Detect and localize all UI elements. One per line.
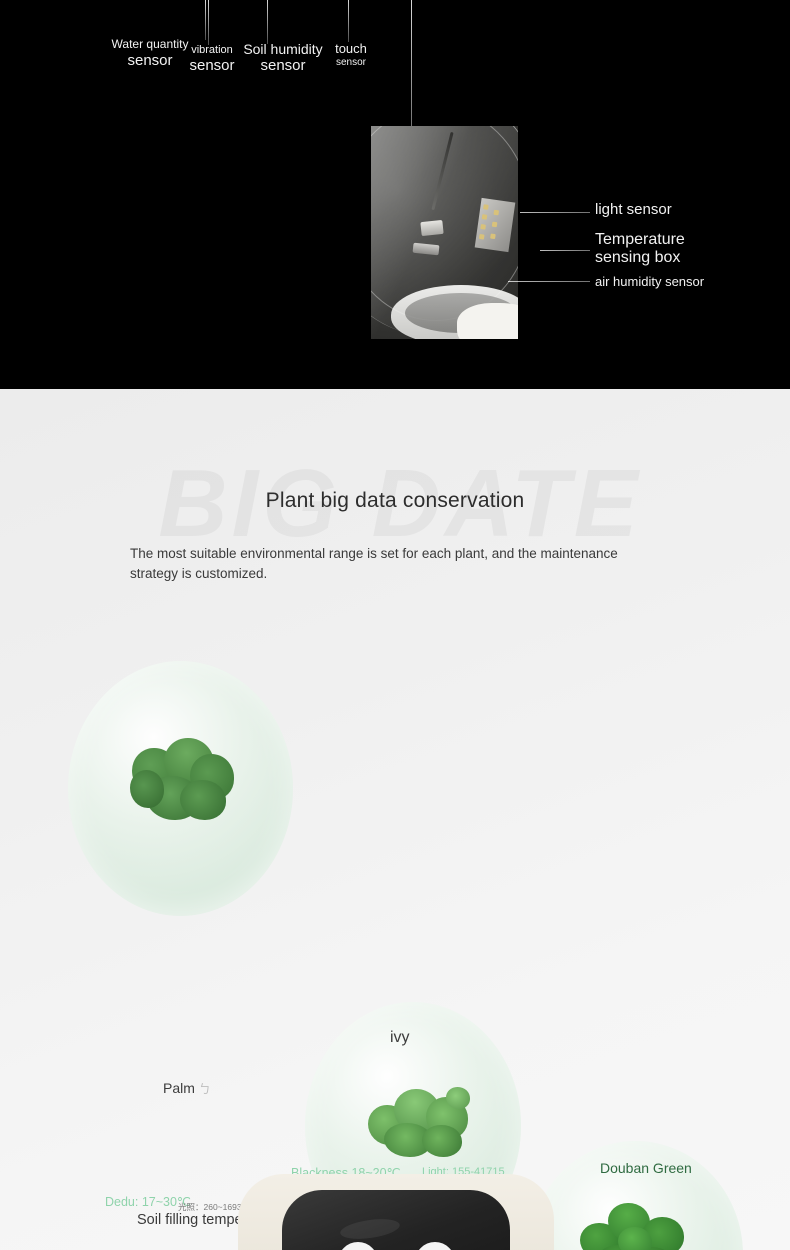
plant-name-ivy: ivy (390, 1029, 410, 1047)
leader-line-temperature-box (540, 250, 590, 251)
robot-face-screen (282, 1190, 510, 1250)
label-soil-humidity-sensor: Soil humidity sensor (233, 41, 333, 74)
page-root: Water quantity sensor vibration sensor S… (0, 0, 790, 1250)
leader-line-vibration (208, 0, 209, 45)
section-title: Plant big data conservation (0, 489, 790, 513)
device-closeup-photo (371, 126, 518, 339)
plant-big-data-section: BIG DATE Plant big data conservation The… (0, 389, 790, 1250)
label-air-humidity-sensor: air humidity sensor (595, 275, 704, 290)
label-light-sensor: light sensor (595, 202, 672, 219)
plant-image-palm (128, 734, 238, 824)
plant-image-douban-green (578, 1201, 690, 1250)
plant-name-palm: Palm ㄅ (163, 1080, 211, 1097)
label-line-2: sensor (233, 57, 333, 74)
leader-line-touch (348, 0, 349, 42)
label-temperature-sensing-box: Temperature sensing box (595, 231, 685, 267)
plant-image-ivy (368, 1087, 473, 1159)
robot-device-image (238, 1168, 554, 1250)
plant-name-douban-green: Douban Green (600, 1160, 692, 1176)
plant-name-suffix: ㄅ (199, 1082, 211, 1096)
leader-line-light-sensor (520, 212, 590, 213)
product-sensor-diagram-section: Water quantity sensor vibration sensor S… (0, 0, 790, 389)
robot-face-gloss (339, 1216, 401, 1242)
leader-line-soil (267, 0, 268, 44)
label-line-1: touch (322, 42, 380, 57)
robot-eye-right (415, 1242, 455, 1250)
label-line-1: Soil humidity (233, 41, 333, 57)
photo-sheen (371, 126, 518, 339)
leader-line-air-humidity (508, 281, 590, 282)
section-subtitle: The most suitable environmental range is… (130, 544, 660, 583)
plant-name-text: Palm (163, 1080, 195, 1096)
label-line-2: sensing box (595, 249, 680, 266)
label-line-1: Temperature (595, 231, 685, 248)
robot-eye-left (338, 1242, 378, 1250)
label-line-2: sensor (322, 57, 380, 69)
label-touch-sensor: touch sensor (322, 42, 380, 68)
leader-line-water (205, 0, 206, 40)
